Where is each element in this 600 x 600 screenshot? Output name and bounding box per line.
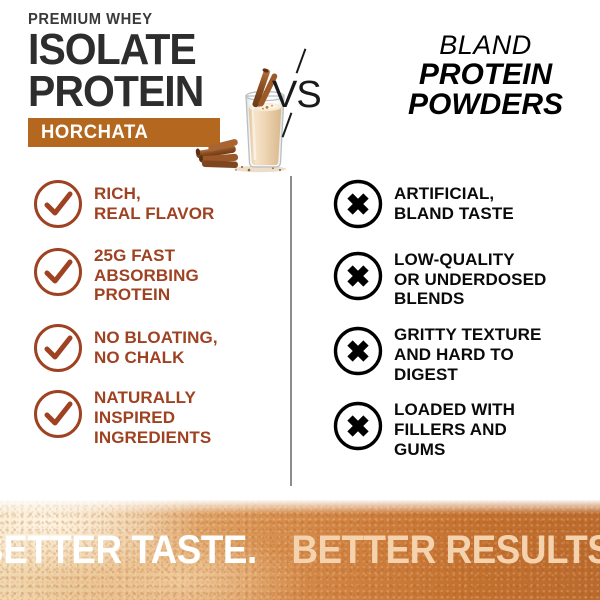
- header: PREMIUM WHEY ISOLATE PROTEIN HORCHATA: [0, 0, 600, 175]
- list-item-line-3: BLENDS: [394, 289, 590, 309]
- list-item: 25G FAST ABSORBING PROTEIN: [32, 246, 282, 305]
- x-circle-icon: [332, 178, 384, 230]
- list-item-line-2: NO CHALK: [94, 348, 282, 368]
- check-circle-icon: [32, 388, 84, 440]
- banner-phrase-primary: BETTER TASTE.: [0, 528, 257, 573]
- list-item-line-1: LOW-QUALITY: [394, 250, 590, 270]
- x-circle-icon: [332, 250, 384, 302]
- vs-slash-top-icon: [296, 48, 307, 73]
- center-divider: [290, 176, 292, 486]
- list-item: NATURALLY INSPIRED INGREDIENTS: [32, 388, 282, 447]
- list-item-line-2: REAL FLAVOR: [94, 204, 282, 224]
- list-item-text: RICH, REAL FLAVOR: [84, 178, 282, 223]
- banner-text: BETTER TASTE. BETTER RESULTS.: [0, 500, 600, 600]
- list-item-text: GRITTY TEXTURE AND HARD TO DIGEST: [384, 325, 590, 384]
- x-circle-icon: [332, 400, 384, 452]
- list-item-line-1: RICH,: [94, 184, 282, 204]
- list-item-line-3: DIGEST: [394, 365, 590, 385]
- list-item: GRITTY TEXTURE AND HARD TO DIGEST: [332, 325, 590, 384]
- list-item-line-2: OR UNDERDOSED: [394, 270, 590, 290]
- competitor-title-line-3: POWDERS: [378, 90, 593, 120]
- vs-mark: VS: [268, 48, 334, 140]
- list-item-line-2: INSPIRED: [94, 408, 282, 428]
- list-item: LOW-QUALITY OR UNDERDOSED BLENDS: [332, 250, 590, 309]
- list-item-text: ARTIFICIAL, BLAND TASTE: [384, 178, 590, 223]
- bottom-banner: BETTER TASTE. BETTER RESULTS.: [0, 500, 600, 600]
- list-item-line-2: BLAND TASTE: [394, 204, 590, 224]
- list-item: NO BLOATING, NO CHALK: [32, 322, 282, 374]
- list-item-text: LOW-QUALITY OR UNDERDOSED BLENDS: [384, 250, 590, 309]
- list-item-line-2: FILLERS AND: [394, 420, 590, 440]
- list-item-line-3: GUMS: [394, 440, 590, 460]
- list-item-text: LOADED WITH FILLERS AND GUMS: [384, 400, 590, 459]
- list-item-line-3: INGREDIENTS: [94, 428, 282, 448]
- list-item: RICH, REAL FLAVOR: [32, 178, 282, 230]
- list-item-line-1: ARTIFICIAL,: [394, 184, 590, 204]
- competitor-title: BLAND PROTEIN POWDERS: [378, 32, 593, 120]
- pros-list: RICH, REAL FLAVOR 25G FAST ABSORBING PRO…: [32, 178, 282, 447]
- list-item-line-2: ABSORBING: [94, 266, 282, 286]
- check-circle-icon: [32, 178, 84, 230]
- flavor-badge-label: HORCHATA: [41, 122, 148, 144]
- list-item: LOADED WITH FILLERS AND GUMS: [332, 400, 590, 459]
- list-item-text: 25G FAST ABSORBING PROTEIN: [84, 246, 282, 305]
- list-item-text: NO BLOATING, NO CHALK: [84, 322, 282, 367]
- list-item-line-1: GRITTY TEXTURE: [394, 325, 590, 345]
- list-item-line-2: AND HARD TO: [394, 345, 590, 365]
- list-item: ARTIFICIAL, BLAND TASTE: [332, 178, 590, 230]
- list-item-line-3: PROTEIN: [94, 285, 282, 305]
- list-item-line-1: NO BLOATING,: [94, 328, 282, 348]
- check-circle-icon: [32, 322, 84, 374]
- competitor-title-line-2: PROTEIN: [378, 60, 593, 90]
- check-circle-icon: [32, 246, 84, 298]
- list-item-line-1: 25G FAST: [94, 246, 282, 266]
- competitor-title-line-1: BLAND: [378, 32, 593, 60]
- list-item-line-1: NATURALLY: [94, 388, 282, 408]
- banner-phrase-secondary: BETTER RESULTS.: [291, 528, 600, 573]
- cons-list: ARTIFICIAL, BLAND TASTE LOW-QUALITY OR U…: [332, 178, 590, 459]
- list-item-text: NATURALLY INSPIRED INGREDIENTS: [84, 388, 282, 447]
- product-title-line-1: ISOLATE: [28, 30, 228, 70]
- x-circle-icon: [332, 325, 384, 377]
- vs-label: VS: [272, 74, 321, 117]
- list-item-line-1: LOADED WITH: [394, 400, 590, 420]
